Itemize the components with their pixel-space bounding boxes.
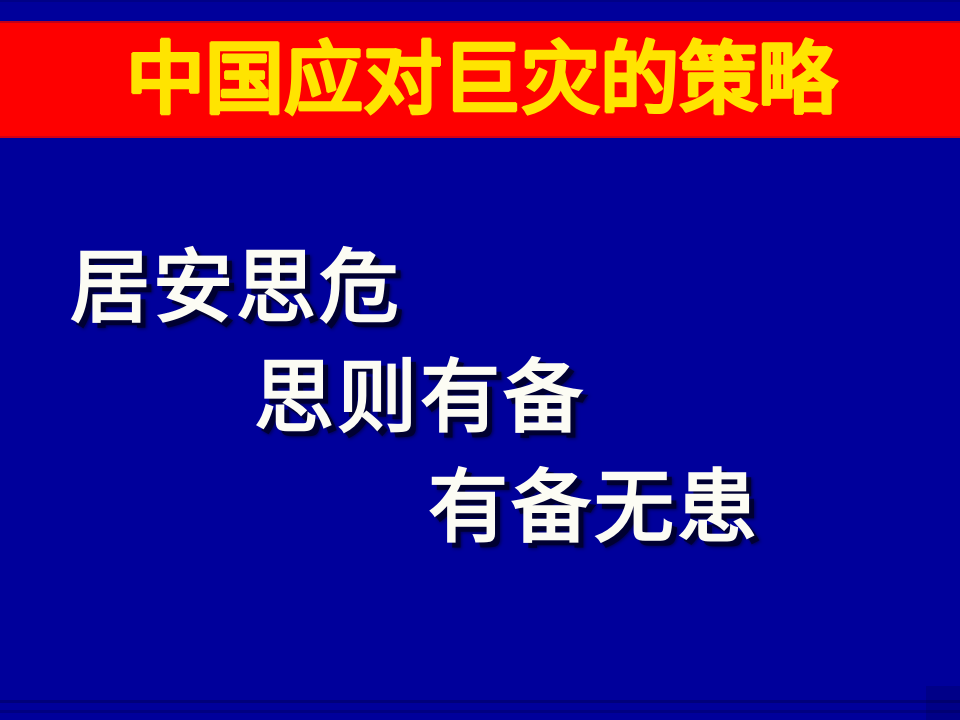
verse-line: 有备无患 xyxy=(428,468,760,548)
verse-line: 居安思危 xyxy=(70,248,402,328)
presentation-slide: 中国应对巨灾的策略 居安思危 思则有备 有备无患 xyxy=(0,0,960,720)
verse-line: 思则有备 xyxy=(254,358,586,438)
verse-block: 居安思危 思则有备 有备无患 xyxy=(0,0,960,720)
